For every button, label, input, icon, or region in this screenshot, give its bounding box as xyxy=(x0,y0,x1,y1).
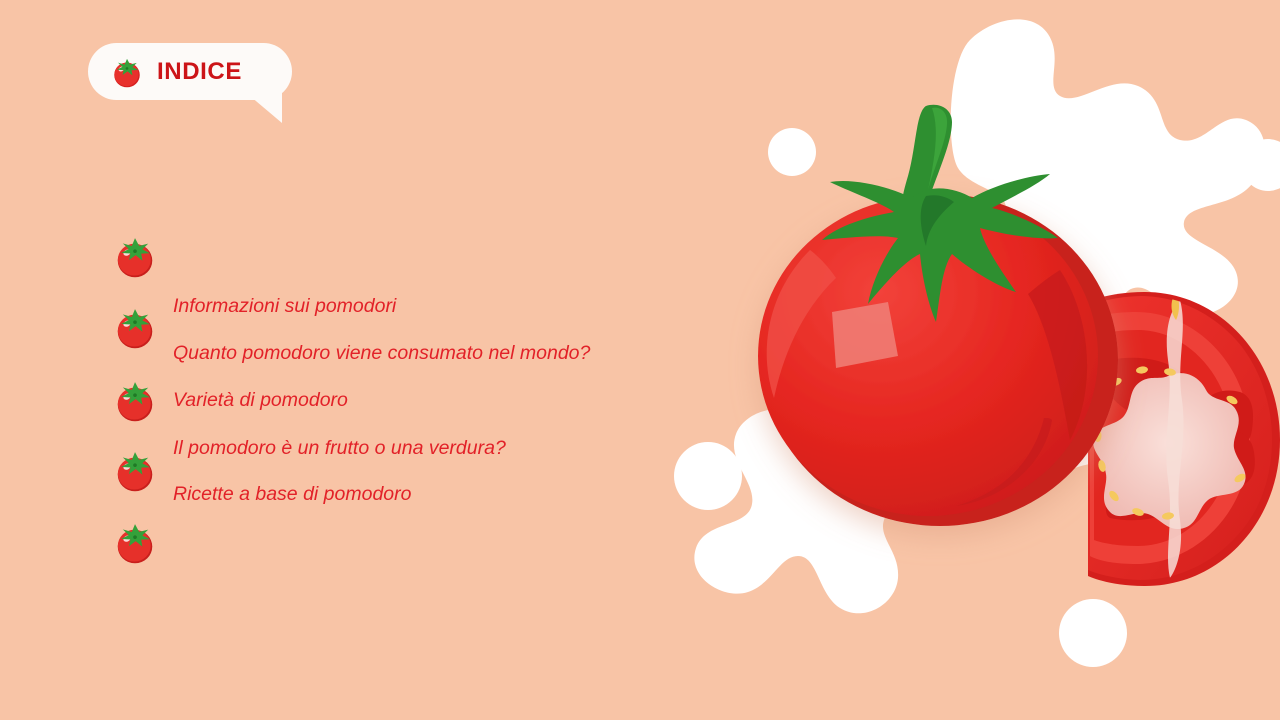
splash-dot-top-left xyxy=(768,128,816,176)
toc-bullet-3 xyxy=(112,447,158,493)
table-of-contents: Informazioni sui pomodori Quanto pomodor… xyxy=(0,0,700,720)
toc-bullet-1 xyxy=(112,304,158,350)
tomato-icon xyxy=(112,304,158,350)
splash-dot-bottom xyxy=(1059,599,1127,667)
toc-bullet-2 xyxy=(112,377,158,423)
tomato-splash-illustration xyxy=(640,0,1280,720)
tomato-icon xyxy=(112,377,158,423)
tomato-icon xyxy=(112,519,158,565)
slide-canvas: INDICE xyxy=(0,0,1280,720)
toc-item-2[interactable]: Varietà di pomodoro xyxy=(173,391,348,411)
tomato-icon xyxy=(112,447,158,493)
tomato-icon xyxy=(112,233,158,279)
toc-item-4[interactable]: Ricette a base di pomodoro xyxy=(173,485,411,505)
toc-bullet-4 xyxy=(112,519,158,565)
halved-tomato xyxy=(1088,292,1280,586)
toc-item-0[interactable]: Informazioni sui pomodori xyxy=(173,297,396,317)
toc-item-1[interactable]: Quanto pomodoro viene consumato nel mond… xyxy=(173,344,590,364)
toc-item-3[interactable]: Il pomodoro è un frutto o una verdura? xyxy=(173,439,506,459)
toc-bullet-0 xyxy=(112,233,158,279)
